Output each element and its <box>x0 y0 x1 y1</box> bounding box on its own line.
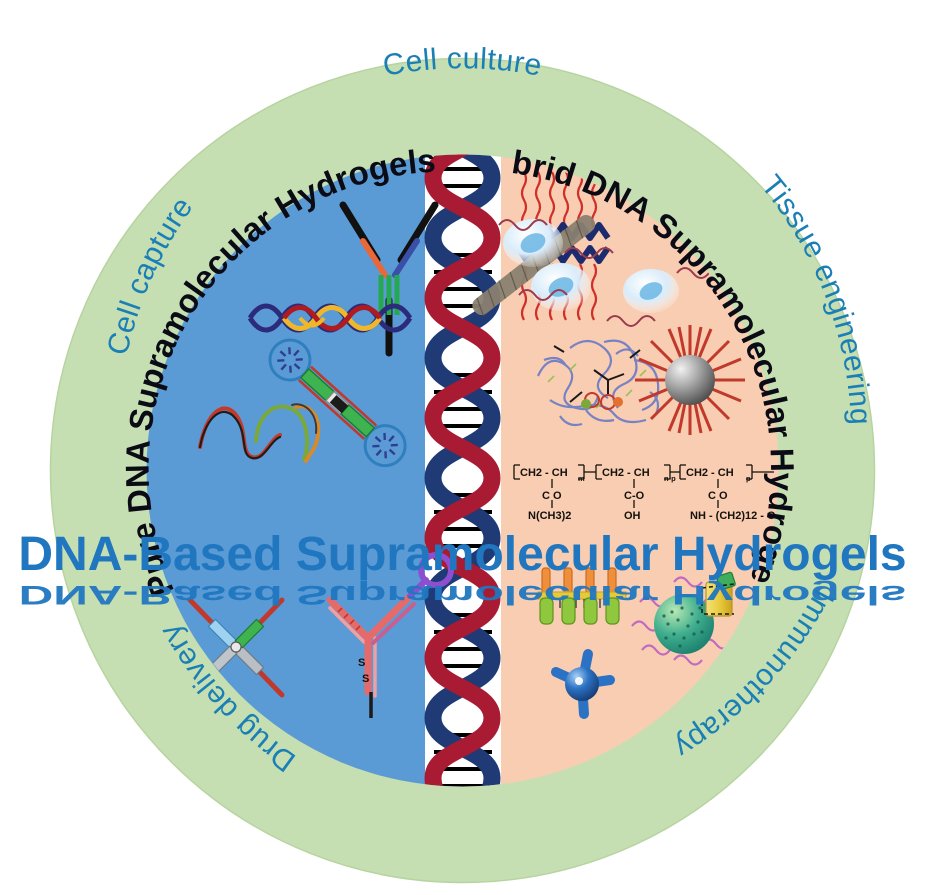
formula-unit-1-branch-bottom: N(CH3)2 <box>528 510 571 522</box>
graphical-abstract: S S <box>0 0 925 895</box>
disulfide-label-s2: S <box>362 673 369 685</box>
formula-unit-3-subscript: p <box>746 474 751 483</box>
formula-unit-2-branch-top: C-O <box>624 490 645 502</box>
figure-canvas: S S <box>0 0 925 895</box>
formula-unit-2-subscript: n-p <box>664 474 676 483</box>
main-title-reflection: DNA-Based Supramolecular Hydrogels <box>19 580 907 609</box>
center-helix-group <box>425 118 501 828</box>
formula-unit-3-backbone: CH2 - CH <box>686 467 734 479</box>
main-title-group: DNA-Based Supramolecular Hydrogels DNA-B… <box>18 528 906 609</box>
formula-unit-1-backbone: CH2 - CH <box>520 467 568 479</box>
formula-unit-1-subscript: m <box>578 474 585 483</box>
spherical-nucleic-acid <box>635 325 745 435</box>
formula-unit-3-branch-top: C O <box>708 490 728 502</box>
page-title: DNA-Based Supramolecular Hydrogels <box>18 528 906 581</box>
disulfide-label-s1: S <box>358 657 365 669</box>
formula-unit-2-branch-bottom: OH <box>624 510 641 522</box>
formula-unit-1-branch-top: C O <box>542 490 562 502</box>
formula-unit-2-backbone: CH2 - CH <box>602 467 650 479</box>
